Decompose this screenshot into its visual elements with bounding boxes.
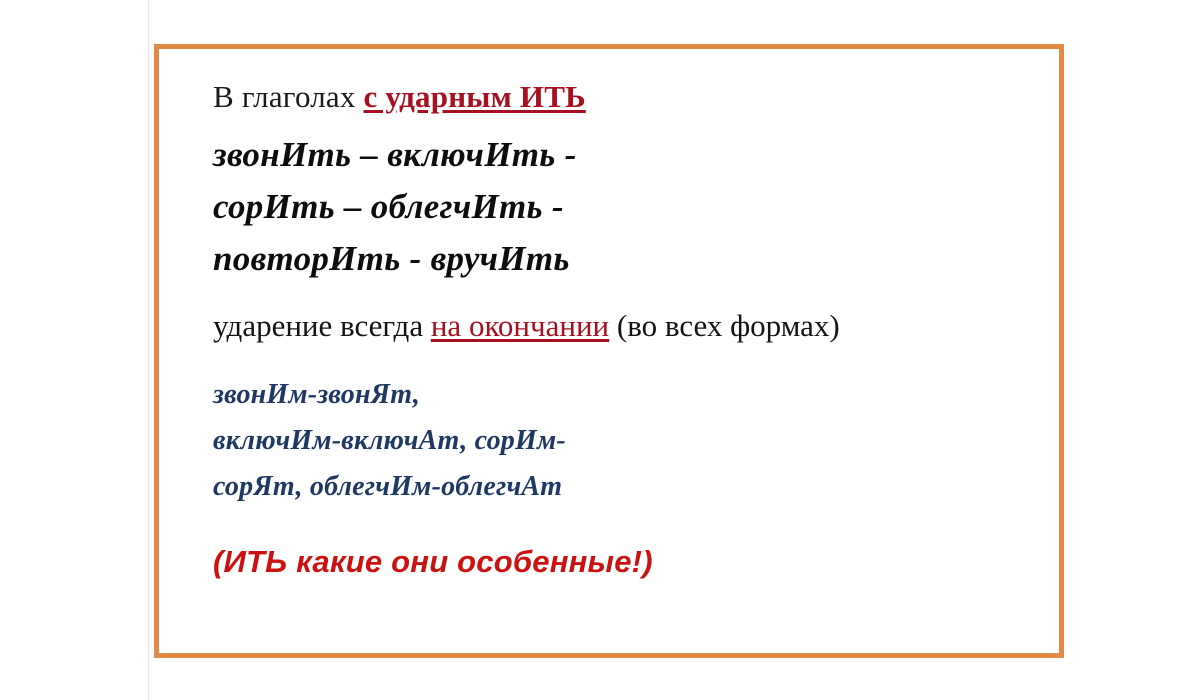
conjugation-line-1: звонИм-звонЯт,	[213, 372, 1049, 418]
slide-left-edge-divider	[148, 0, 149, 700]
intro-plain-prefix: В глаголах	[213, 79, 364, 114]
conjugation-line-2: включИм-включАт, сорИм-	[213, 418, 1049, 464]
verb-line-1: звонИть – включИть -	[213, 129, 1049, 181]
rule-highlight-na-okonchanii: на окончании	[431, 308, 609, 343]
closing-exclamation-line: (ИТЬ какие они особенные!)	[213, 541, 1049, 583]
intro-highlight-udarnym-it: с ударным ИТЬ	[364, 79, 586, 114]
intro-line: В глаголах с ударным ИТЬ	[213, 75, 1049, 119]
conjugation-examples-block: звонИм-звонЯт, включИм-включАт, сорИм- с…	[213, 372, 1049, 510]
rule-suffix: (во всех формах)	[609, 308, 840, 343]
stress-rule-line: ударение всегда на окончании (во всех фо…	[213, 304, 1049, 348]
slide-canvas: В глаголах с ударным ИТЬ звонИть – включ…	[0, 0, 1200, 700]
rule-prefix: ударение всегда	[213, 308, 431, 343]
verb-line-2: сорИть – облегчИть -	[213, 181, 1049, 233]
verb-list: звонИть – включИть - сорИть – облегчИть …	[213, 129, 1049, 285]
slide-text-body: В глаголах с ударным ИТЬ звонИть – включ…	[213, 75, 1049, 583]
conjugation-line-3: сорЯт, облегчИм-облегчАт	[213, 464, 1049, 510]
verb-line-3: повторИть - вручИть	[213, 233, 1049, 285]
orange-bordered-content-frame: В глаголах с ударным ИТЬ звонИть – включ…	[154, 44, 1064, 658]
